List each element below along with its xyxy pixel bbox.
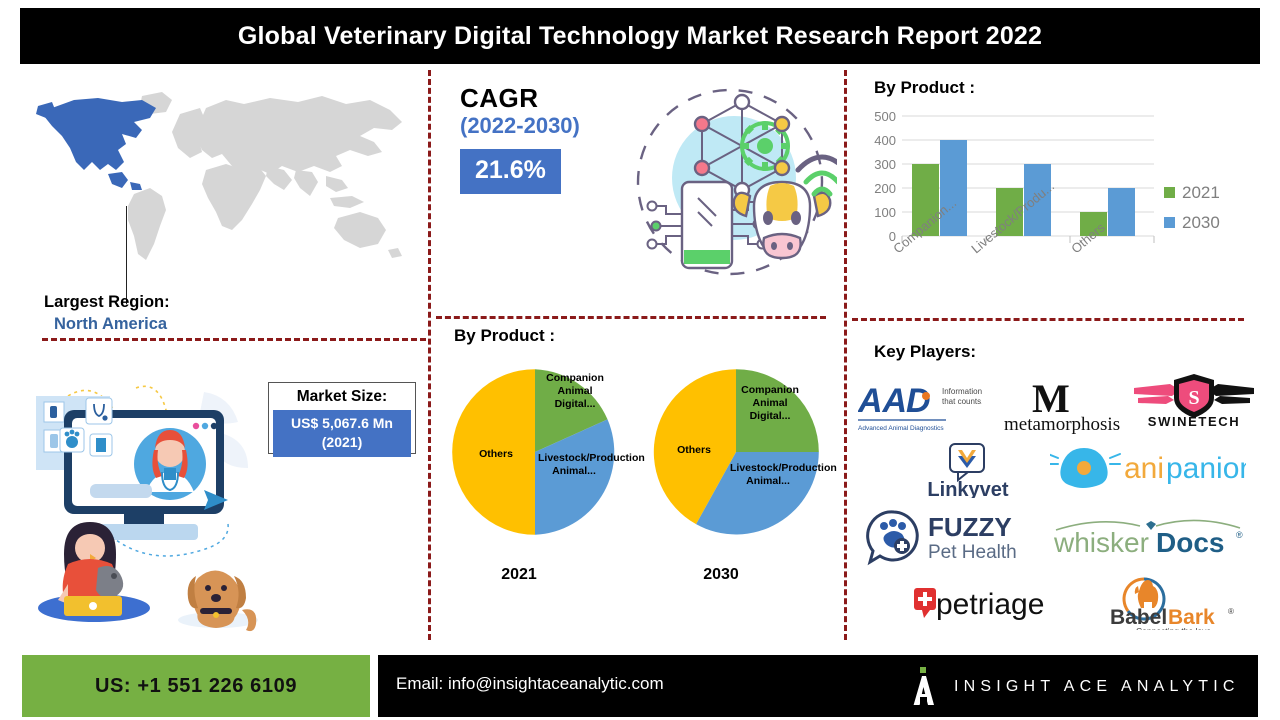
svg-text:Information: Information (942, 387, 982, 396)
left-panel: Largest Region: North America (20, 70, 428, 640)
pie-chart-2021: Companion Animal Digital... Livestock/Pr… (440, 356, 630, 616)
svg-text:panion: panion (1166, 452, 1246, 485)
footer-email: Email: info@insightaceanalytic.com (396, 674, 664, 694)
bar-ytick-200: 200 (874, 181, 896, 196)
key-players-logos: AA D Information that counts. Advanced A… (854, 366, 1258, 628)
petriage-logo-icon: petriage (912, 582, 1048, 622)
svg-text:®: ® (1236, 530, 1243, 540)
pie-2021-year: 2021 (424, 566, 614, 584)
largest-region-value: North America (44, 313, 170, 335)
largest-region-label: Largest Region: (44, 292, 170, 313)
svg-text:Docs: Docs (1156, 527, 1224, 558)
babelbark-logo-icon: Babel Bark ® Connecting the love. (1106, 574, 1242, 630)
middle-panel: CAGR (2022-2030) 21.6% (432, 70, 844, 640)
bar-chart-title: By Product : (874, 78, 975, 98)
svg-text:SWINETECH: SWINETECH (1148, 414, 1240, 429)
cagr-label: CAGR (460, 84, 580, 113)
telemedicine-illustration (28, 372, 280, 632)
bar-2030-others (1108, 188, 1135, 236)
svg-text:Pet Health: Pet Health (928, 542, 1017, 563)
key-players-title: Key Players: (874, 342, 976, 362)
page-title-bar: Global Veterinary Digital Technology Mar… (20, 8, 1260, 64)
pie-2021-label-livestock: Livestock/Production Animal... (538, 452, 610, 478)
right-panel: By Product : 500 400 300 200 100 0 (848, 70, 1260, 640)
linkyvet-logo-icon: Linkyvet (912, 442, 1024, 498)
svg-text:FUZZY: FUZZY (928, 512, 1012, 542)
market-size-box: Market Size: US$ 5,067.6 Mn (2021) (268, 382, 416, 454)
legend-label-2030: 2030 (1182, 213, 1220, 232)
cagr-value: 21.6% (460, 149, 561, 194)
cagr-period: (2022-2030) (460, 113, 580, 139)
pie-chart-2030: Companion Animal Digital... Livestock/Pr… (644, 356, 834, 616)
divider-vertical-right (844, 70, 847, 640)
telemedicine-vet-illustration-icon (28, 372, 280, 632)
market-size-value: US$ 5,067.6 Mn (2021) (273, 410, 411, 457)
svg-text:Connecting the love.: Connecting the love. (1136, 626, 1214, 630)
world-map-icon (30, 78, 420, 283)
footer-phone: US: +1 551 226 6109 (95, 675, 297, 698)
svg-text:S: S (1188, 387, 1199, 409)
map-pointer-line (126, 206, 127, 304)
footer-bar: US: +1 551 226 6109 Email: info@insighta… (0, 650, 1280, 720)
svg-text:D: D (906, 382, 931, 420)
pie-charts-group: Companion Animal Digital... Livestock/Pr… (432, 356, 844, 626)
legend-swatch-2030 (1164, 217, 1175, 228)
svg-text:ani: ani (1124, 452, 1164, 485)
pie-2030-year: 2030 (626, 566, 816, 584)
svg-text:whisker: whisker (1053, 527, 1149, 558)
cagr-block: CAGR (2022-2030) 21.6% (460, 84, 580, 194)
pie-2021-label-companion: Companion Animal Digital... (538, 372, 612, 410)
market-size-label: Market Size: (269, 387, 415, 407)
bar-2030-companion (940, 140, 967, 236)
swinetech-logo-icon: S SWINETECH (1132, 370, 1256, 430)
anipanion-logo-icon: ani panion (1050, 444, 1246, 488)
bar-ytick-400: 400 (874, 133, 896, 148)
bar-chart: 500 400 300 200 100 0 (854, 102, 1254, 317)
aad-logo-icon: AA D Information that counts. Advanced A… (858, 380, 982, 436)
svg-text:that counts.: that counts. (942, 397, 982, 406)
svg-text:®: ® (1228, 607, 1234, 616)
pie-section-title: By Product : (454, 326, 555, 346)
metamorphosis-logo-icon: M metamorphosis (1002, 380, 1126, 436)
pie-2030-label-companion: Companion Animal Digital... (732, 384, 808, 422)
legend-label-2021: 2021 (1182, 183, 1220, 202)
svg-text:petriage: petriage (936, 588, 1044, 621)
footer-brand-logo: INSIGHT ACE ANALYTIC (908, 665, 1240, 709)
insightace-a-mark-icon (908, 667, 938, 707)
svg-text:Linkyvet: Linkyvet (927, 479, 1008, 498)
svg-text:metamorphosis: metamorphosis (1004, 414, 1120, 435)
page-title: Global Veterinary Digital Technology Mar… (238, 22, 1042, 51)
legend-swatch-2021 (1164, 187, 1175, 198)
bar-ytick-300: 300 (874, 157, 896, 172)
whiskerdocs-logo-icon: whisker Docs ® (1050, 512, 1250, 558)
bar-ytick-100: 100 (874, 205, 896, 220)
world-map (30, 78, 420, 283)
divider-vertical-left (428, 70, 431, 640)
pie-2030-label-others: Others (666, 444, 722, 457)
fuzzy-pet-health-logo-icon: FUZZY Pet Health (866, 508, 1018, 566)
infographic-body: Largest Region: North America (20, 70, 1260, 640)
iot-cow-smartphone-illustration-icon (622, 78, 837, 293)
svg-text:AA: AA (858, 382, 907, 420)
pie-2030-label-livestock: Livestock/Production Animal... (730, 462, 806, 488)
largest-region-block: Largest Region: North America (44, 292, 170, 335)
footer-brand-name: INSIGHT ACE ANALYTIC (954, 678, 1240, 696)
svg-text:Advanced Animal Diagnostics: Advanced Animal Diagnostics (858, 425, 944, 432)
pie-2021-label-others: Others (468, 448, 524, 461)
footer-contact-block: Email: info@insightaceanalytic.com INSIG… (378, 655, 1258, 717)
bar-ytick-500: 500 (874, 109, 896, 124)
footer-phone-block: US: +1 551 226 6109 (22, 655, 370, 717)
